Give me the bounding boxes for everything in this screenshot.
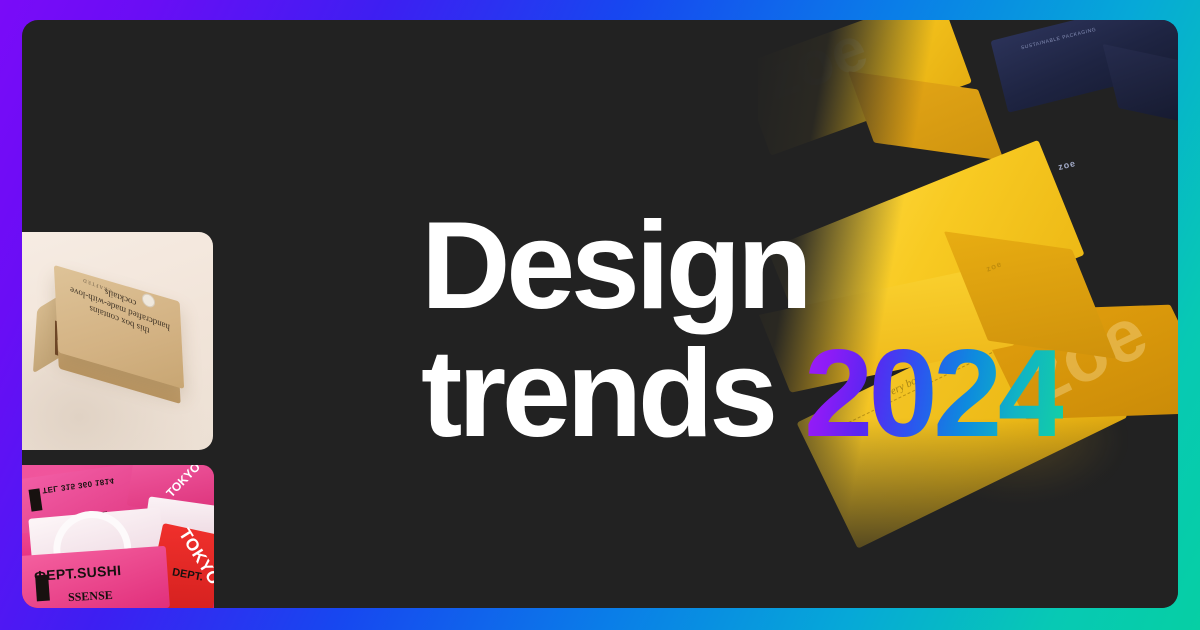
- pink-bag-ssense-label: SSENSE: [68, 588, 113, 605]
- thumbnail-pink-sushi-bags[interactable]: TEL 315 360 1814 SSENSE TOKYO USHI TOKYO…: [22, 465, 214, 608]
- dark-content-card: SUSTAINABLE PACKAGING zoe zoe every body…: [22, 20, 1178, 608]
- headline-block: Design trends 2024: [421, 203, 1021, 458]
- headline-line-design: Design: [421, 203, 1021, 331]
- headline-word-year: 2024: [804, 325, 1063, 463]
- headline-word-trends: trends: [421, 325, 774, 463]
- thumbnail-kraft-cocktail-box[interactable]: CRAFTED this box contains handcrafted ma…: [22, 232, 213, 450]
- headline-line-trends-2024: trends 2024: [421, 331, 1021, 459]
- design-trends-banner: SUSTAINABLE PACKAGING zoe zoe every body…: [0, 0, 1200, 630]
